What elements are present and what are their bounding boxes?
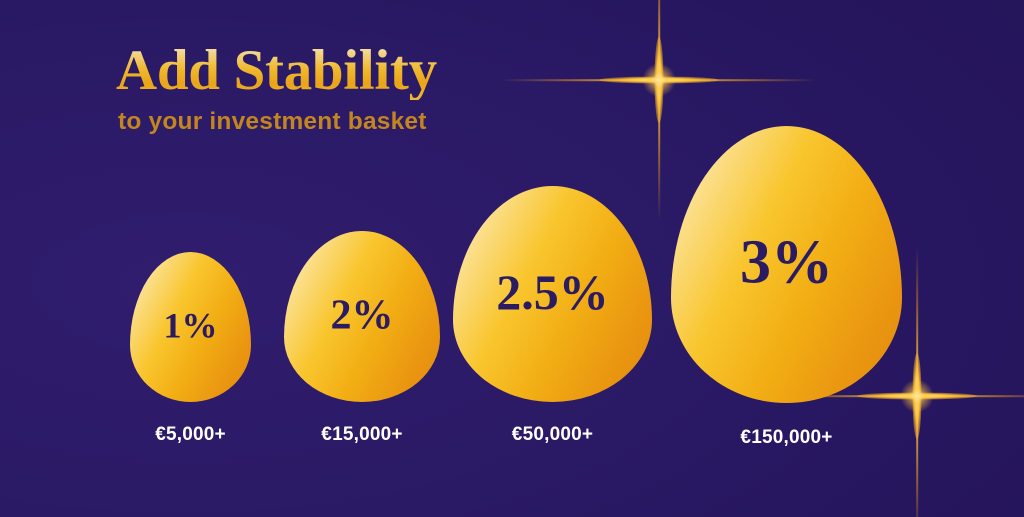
egg-shape: 2.5% xyxy=(453,186,652,402)
tier-amount-label: €5,000+ xyxy=(155,424,226,446)
tier-amount-label: €150,000+ xyxy=(740,427,832,449)
tier-percent-value: 2.5% xyxy=(496,267,609,317)
sparkle-core-vertical xyxy=(655,37,664,123)
page-subtitle: to your investment basket xyxy=(118,108,437,136)
sparkle-core-vertical xyxy=(913,353,922,439)
tier-percent-value: 3% xyxy=(740,231,833,293)
tier-3[interactable]: 2.5% xyxy=(453,186,652,402)
headline-block: Add Stability to your investment basket xyxy=(116,42,437,136)
sparkle-vertical-ray xyxy=(658,0,660,220)
tier-1[interactable]: 1% xyxy=(130,252,251,402)
tier-percent-value: 2% xyxy=(331,294,394,336)
tier-amount-label: €50,000+ xyxy=(512,424,593,446)
sparkle-horizontal-ray xyxy=(500,79,818,81)
sparkle-glow xyxy=(642,63,676,97)
egg-shape: 3% xyxy=(671,126,902,403)
tier-amount-label: €15,000+ xyxy=(321,424,402,446)
egg-shape: 2% xyxy=(284,231,440,402)
sparkle-core-horizontal xyxy=(599,77,719,84)
tier-4[interactable]: 3% xyxy=(671,126,902,403)
tier-2[interactable]: 2% xyxy=(284,231,440,402)
poster-canvas: Add Stability to your investment basket … xyxy=(0,0,1024,517)
egg-shape: 1% xyxy=(130,252,251,402)
page-title: Add Stability xyxy=(116,42,437,100)
sparkle-vertical-ray xyxy=(916,246,918,517)
sparkle-glow xyxy=(900,379,934,413)
tier-percent-value: 1% xyxy=(164,308,218,344)
